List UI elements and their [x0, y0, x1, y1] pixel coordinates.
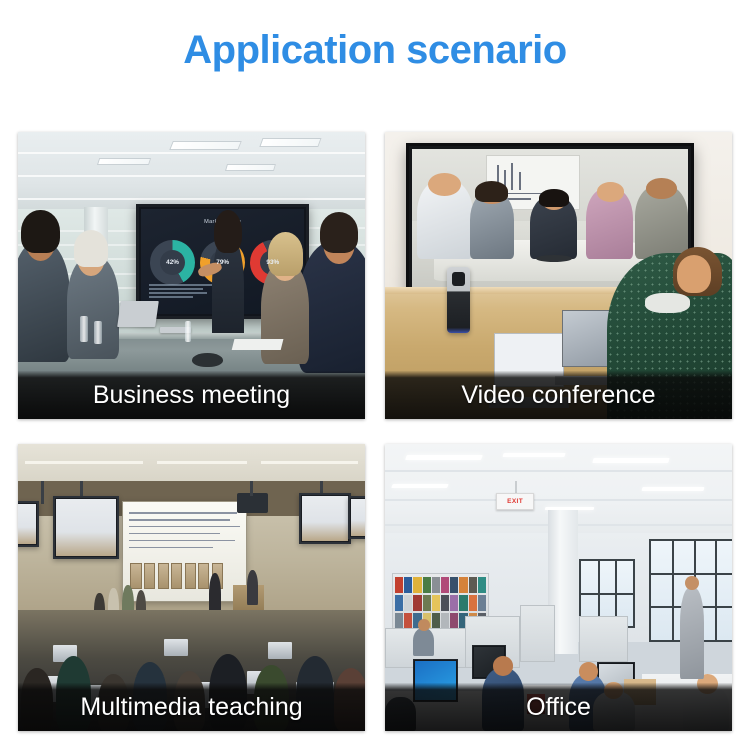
exit-sign: EXIT: [496, 493, 534, 510]
donut-value-93: 93%: [266, 259, 279, 266]
monitor-screen: [351, 499, 365, 536]
projection-screen: [122, 501, 247, 601]
attendee-hair: [21, 210, 59, 253]
ceiling-light-strip: [157, 461, 247, 464]
ceiling-monitor[interactable]: [18, 501, 39, 547]
remote-participant-hair: [539, 189, 569, 207]
worker-head: [579, 662, 598, 681]
ceiling-light-strip: [25, 461, 143, 464]
remote-participant-head: [646, 178, 676, 199]
laptop: [117, 301, 159, 327]
remote-participant-head: [597, 182, 625, 201]
monitor-screen: [302, 496, 348, 542]
woman-arm: [645, 293, 690, 313]
book-row: [395, 577, 486, 593]
ceiling-grid-line: [18, 152, 365, 154]
ceiling-grid-line: [18, 198, 365, 200]
water-bottle: [80, 316, 88, 342]
projector-mount: [250, 481, 253, 495]
student-laptop: [268, 642, 292, 659]
panel-caption-business-meeting: Business meeting: [93, 381, 290, 409]
ceiling-light: [225, 164, 276, 171]
panel-caption-office: Office: [526, 693, 591, 721]
attendee-hair: [74, 230, 109, 267]
cubicle-partition: [520, 605, 555, 662]
assistant: [247, 570, 258, 604]
ceiling-light-strip: [261, 461, 358, 464]
scenario-panel-video-conference[interactable]: Video conference: [385, 132, 732, 419]
monitor-mount: [41, 481, 44, 504]
scenario-panel-business-meeting[interactable]: Market Share 42% 79% 93%: [18, 132, 365, 419]
standing-worker: [680, 588, 704, 680]
scenario-panel-grid: Market Share 42% 79% 93%: [18, 132, 732, 731]
ceiling-grid-line: [385, 499, 732, 501]
paper-sheet: [232, 339, 283, 350]
monitor-screen: [56, 499, 116, 556]
exit-sign-label: EXIT: [507, 498, 523, 505]
panel-caption-bar: Office: [385, 683, 732, 731]
ceiling-grid-line: [18, 175, 365, 177]
donut-value-42: 42%: [166, 259, 179, 266]
cubicle-partition: [579, 616, 628, 662]
ceiling-grid-line: [385, 470, 732, 472]
woman-head: [677, 255, 712, 292]
slide-text-lines: [149, 284, 218, 307]
student-laptop: [164, 639, 188, 656]
ceiling-light: [593, 458, 671, 463]
water-bottle: [94, 321, 102, 344]
panel-caption-multimedia-teaching: Multimedia teaching: [80, 693, 302, 721]
ceiling-light: [391, 484, 448, 488]
panel-caption-video-conference: Video conference: [461, 381, 655, 409]
ceiling-monitor[interactable]: [299, 493, 351, 545]
camera-lens: [452, 272, 465, 287]
book-row: [395, 595, 486, 611]
monitor-screen: [18, 504, 36, 544]
ceiling-light: [641, 487, 704, 491]
remote-participant-hair: [475, 181, 508, 202]
attendee-hair: [268, 232, 303, 275]
panel-caption-bar: Business meeting: [18, 371, 365, 419]
panel-caption-bar: Multimedia teaching: [18, 683, 365, 731]
conference-camera-device[interactable]: [447, 267, 470, 333]
remote-speakerphone: [536, 255, 572, 262]
donut-chart-42: 42%: [150, 240, 195, 285]
ceiling-light: [259, 138, 321, 147]
page-title: Application scenario: [0, 24, 750, 76]
office-worker: [413, 628, 434, 657]
scenario-panel-office[interactable]: EXIT: [385, 444, 732, 731]
worker-head: [418, 619, 430, 630]
ceiling-monitor[interactable]: [53, 496, 119, 559]
scenario-panel-multimedia-teaching[interactable]: Multimedia teaching: [18, 444, 365, 731]
panel-caption-bar: Video conference: [385, 371, 732, 419]
ceiling-light: [405, 455, 483, 460]
water-bottle: [185, 321, 192, 341]
conference-phone: [192, 353, 223, 367]
attendee-hair: [320, 212, 358, 252]
presenter-hair: [214, 210, 242, 253]
ceiling-light: [502, 453, 566, 457]
ceiling-monitor[interactable]: [348, 496, 365, 539]
ceiling-projector: [237, 493, 268, 513]
donut-value-79: 79%: [216, 259, 229, 266]
ceiling-light: [97, 158, 151, 165]
ceiling-light: [169, 141, 242, 150]
